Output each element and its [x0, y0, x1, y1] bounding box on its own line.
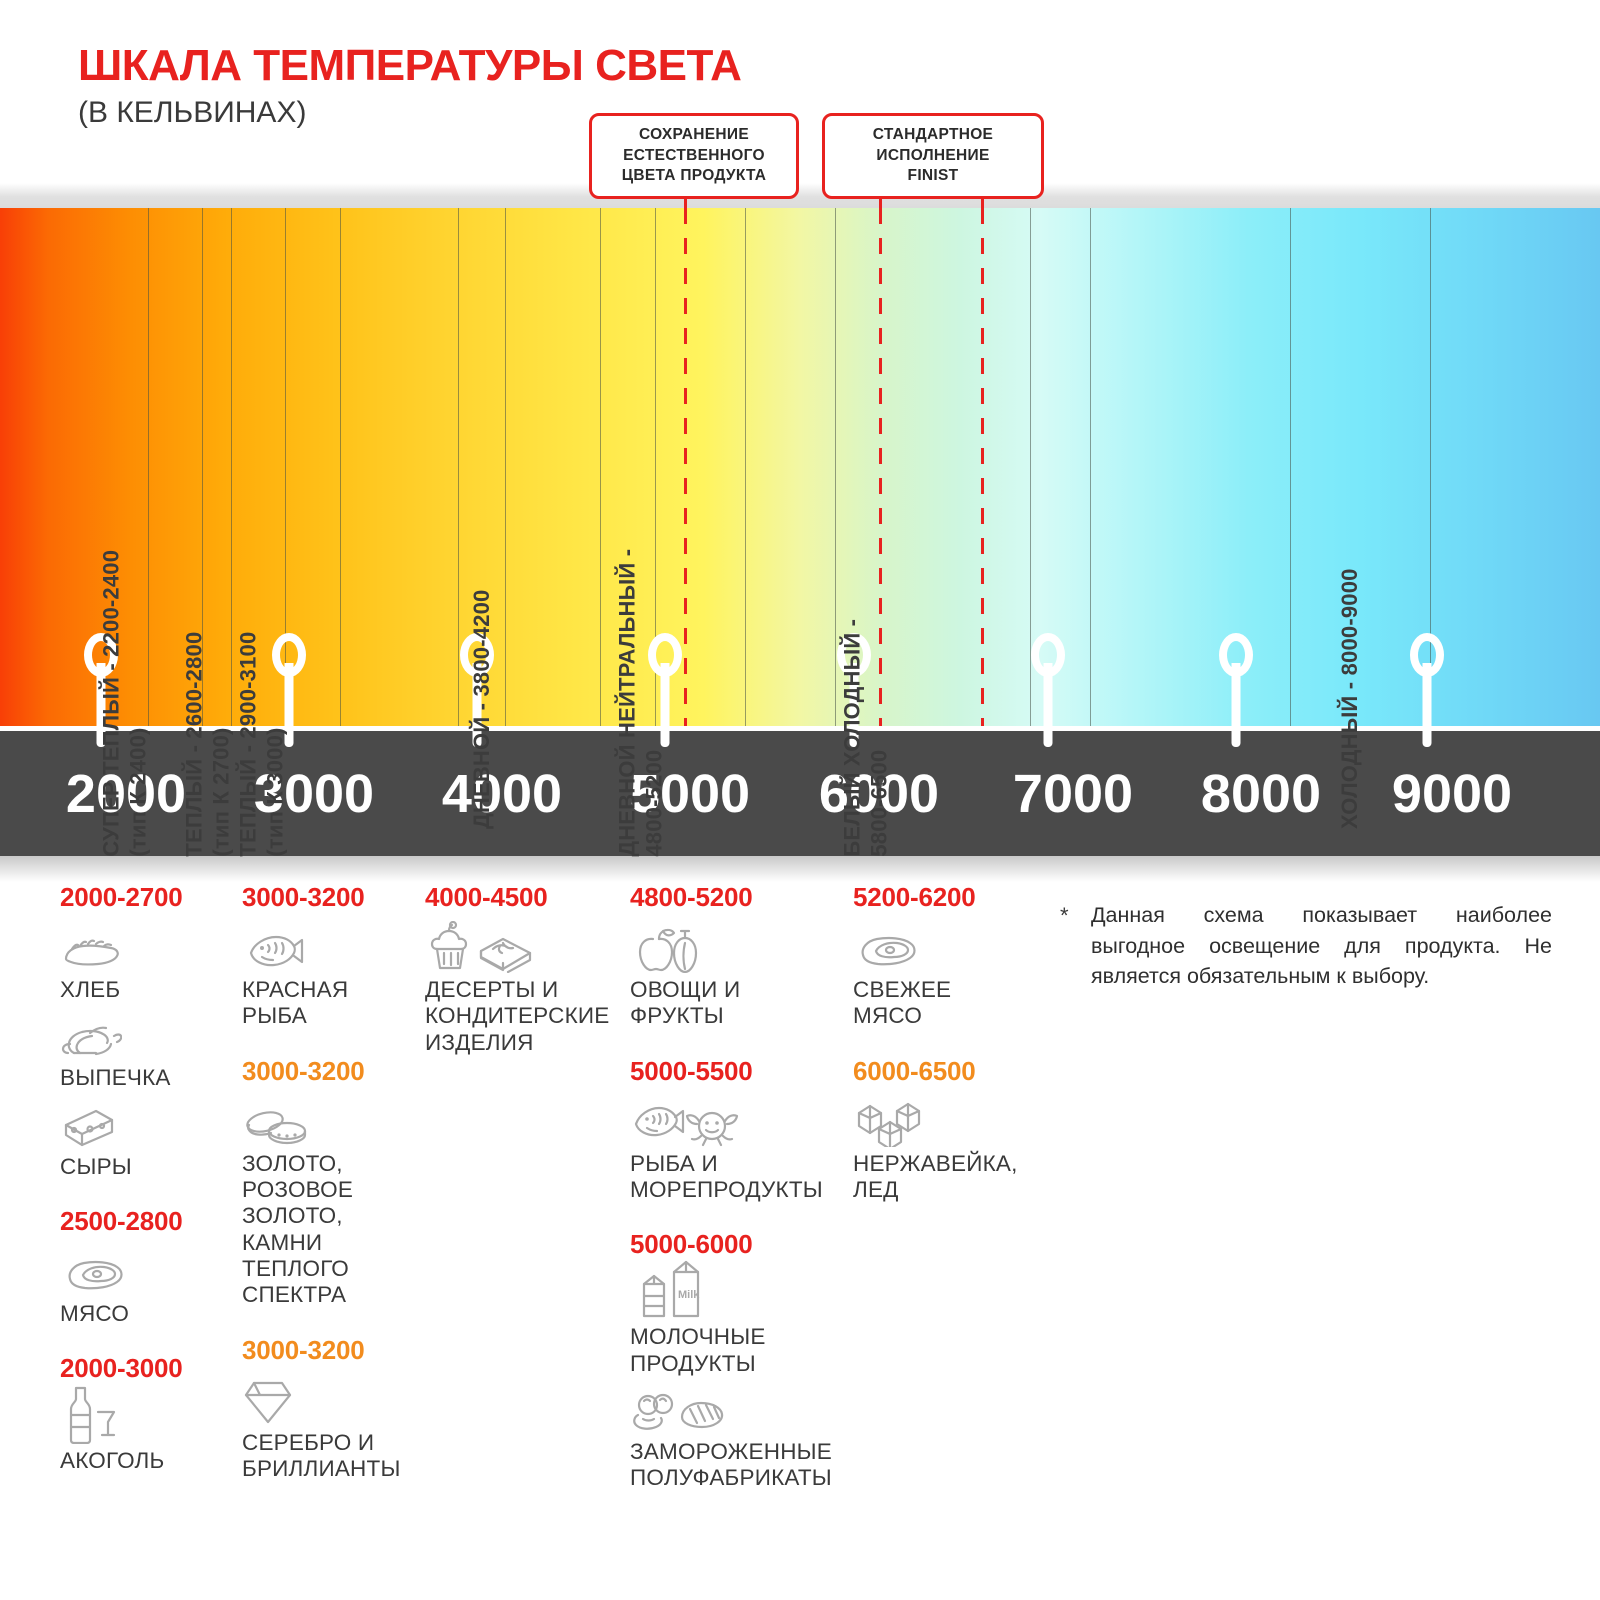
legend-item-label-line: РОЗОВОЕ ЗОЛОТО, [242, 1177, 427, 1230]
callout-finist-standard[interactable]: СТАНДАРТНОЕ ИСПОЛНЕНИЕ FINIST [822, 113, 1044, 199]
band-divider [1290, 208, 1291, 726]
callout-line-3: ЦВЕТА ПРОДУКТА [604, 166, 784, 187]
legend-item-label: МОЛОЧНЫЕ ПРОДУКТЫ [630, 1324, 848, 1377]
legend-item-label-line: ЛЕД [853, 1177, 1038, 1203]
band-divider [340, 208, 341, 726]
legend-item-label: ДЕСЕРТЫ ИКОНДИТЕРСКИЕИЗДЕЛИЯ [425, 977, 615, 1056]
legend-item-label: СЫРЫ [60, 1154, 235, 1180]
footnote-marker: * [1060, 903, 1069, 929]
band-range-label: БЕЛЫЙ ХОЛОДНЫЙ -5800-6500 [839, 619, 893, 857]
color-temperature-gradient: СУПЕР ТЕПЛЫЙ - 2200-2400(тип К 2400)ТЕПЛ… [0, 208, 1600, 726]
band-divider [835, 208, 836, 726]
infographic-page: ШКАЛА ТЕМПЕРАТУРЫ СВЕТА (В КЕЛЬВИНАХ) СО… [0, 0, 1600, 1600]
legend-item-label: СЕРЕБРО ИБРИЛЛИАНТЫ [242, 1430, 427, 1483]
legend-item-label-line: МОРЕПРОДУКТЫ [630, 1177, 848, 1203]
band-range-label: ХОЛОДНЫЙ - 8000-9000 [1337, 568, 1363, 829]
legend-group: 4000-4500ДЕСЕРТЫ ИКОНДИТЕРСКИЕИЗДЕЛИЯ [425, 882, 615, 1056]
legend-item: ВЫПЕЧКА [60, 1009, 235, 1091]
legend-item: ДЕСЕРТЫ ИКОНДИТЕРСКИЕИЗДЕЛИЯ [425, 921, 615, 1056]
legend-item-label-line: ХЛЕБ [60, 977, 235, 1003]
scale-tick-label: 8000 [1201, 763, 1321, 825]
scale-tick-label: 4000 [442, 763, 562, 825]
legend-item-label-line: МЯСО [60, 1301, 235, 1327]
callout-leader-line [684, 199, 687, 208]
milk-carton-icon: Milk [630, 1268, 848, 1320]
legend-item-label: СВЕЖЕЕМЯСО [853, 977, 1038, 1030]
band-range-label-line-1: БЕЛЫЙ ХОЛОДНЫЙ - [839, 619, 866, 857]
legend-item-label: ХЛЕБ [60, 977, 235, 1003]
legend-item-label-line: СЫРЫ [60, 1154, 235, 1180]
legend-column-4: 5200-6200СВЕЖЕЕМЯСО6000-6500НЕРЖАВЕЙКА,Л… [853, 882, 1038, 1229]
bread-icon [60, 921, 235, 973]
legend-item: СЫРЫ [60, 1098, 235, 1180]
page-subtitle: (В КЕЛЬВИНАХ) [78, 96, 306, 130]
band-range-label: ТЕПЛЫЙ - 2900-3100(тип К 3000) [235, 632, 289, 857]
legend-item: ОВОЩИ ИФРУКТЫ [630, 921, 848, 1030]
steak-icon [853, 921, 1038, 973]
legend-range-label: 4800-5200 [630, 882, 848, 913]
apple-pepper-icon [630, 921, 848, 973]
legend-item: MilkМОЛОЧНЫЕ ПРОДУКТЫ [630, 1268, 848, 1377]
band-range-label-line-2: (тип К 2400) [125, 550, 152, 857]
legend-group: 5000-5500РЫБА ИМОРЕПРОДУКТЫ [630, 1056, 848, 1204]
fish-icon [242, 921, 427, 973]
legend-group: 2000-3000АКОГОЛЬ [60, 1353, 235, 1474]
legend-item-label: АКОГОЛЬ [60, 1448, 235, 1474]
legend-column-3: 4800-5200ОВОЩИ ИФРУКТЫ5000-5500РЫБА ИМОР… [630, 882, 848, 1518]
scale-tick-label: 7000 [1013, 763, 1133, 825]
legend-item-label: КРАСНАЯРЫБА [242, 977, 427, 1030]
band-dashed-marker [684, 208, 687, 726]
legend-item-label: ЗАМОРОЖЕННЫЕПОЛУФАБРИКАТЫ [630, 1439, 848, 1492]
legend-item-label-line: МЯСО [853, 1003, 1038, 1029]
band-divider [600, 208, 601, 726]
band-divider [745, 208, 746, 726]
legend-item: СВЕЖЕЕМЯСО [853, 921, 1038, 1030]
legend-item-label: РЫБА ИМОРЕПРОДУКТЫ [630, 1151, 848, 1204]
cheese-icon [60, 1098, 235, 1150]
legend-item-label: ВЫПЕЧКА [60, 1065, 235, 1091]
band-range-label-line-1: ТЕПЛЫЙ - 2600-2800 [181, 632, 208, 857]
band-divider [505, 208, 506, 726]
band-range-label-line-2: (тип К 2700) [208, 632, 235, 857]
legend-range-label: 6000-6500 [853, 1056, 1038, 1087]
bottle-glass-icon [60, 1392, 235, 1444]
legend-group: 2000-2700ХЛЕБВЫПЕЧКАСЫРЫ [60, 882, 235, 1180]
band-range-label-line-1: СУПЕР ТЕПЛЫЙ - 2200-2400 [98, 550, 125, 857]
legend-range-label: 2000-2700 [60, 882, 235, 913]
callout-line-2: ИСПОЛНЕНИЕ [837, 146, 1029, 167]
svg-text:Milk: Milk [678, 1289, 700, 1301]
legend-range-label: 3000-3200 [242, 882, 427, 913]
legend-item-label-line: ДЕСЕРТЫ И [425, 977, 615, 1003]
legend-range-label: 2500-2800 [60, 1206, 235, 1237]
legend-item: ЗОЛОТО,РОЗОВОЕ ЗОЛОТО,КАМНИ ТЕПЛОГОСПЕКТ… [242, 1095, 427, 1309]
callout-line-1: СОХРАНЕНИЕ [604, 125, 784, 146]
scale-tick-label: 9000 [1392, 763, 1512, 825]
legend-item-label-line: АКОГОЛЬ [60, 1448, 235, 1474]
spectrum-band: СУПЕР ТЕПЛЫЙ - 2200-2400(тип К 2400)ТЕПЛ… [0, 183, 1600, 731]
band-range-label-line-1: ХОЛОДНЫЙ - 8000-9000 [1337, 568, 1363, 829]
band-range-label: ДНЕВНОЙ - 3800-4200 [469, 590, 495, 830]
callout-leader-line [981, 199, 984, 208]
steak-icon [60, 1245, 235, 1297]
legend-item: НЕРЖАВЕЙКА,ЛЕД [853, 1095, 1038, 1204]
pin-stem [1044, 663, 1053, 747]
frozen-food-icon [630, 1383, 848, 1435]
pin-stem [1423, 663, 1432, 747]
pin-stem [1232, 663, 1241, 747]
legend-item-label-line: РЫБА [242, 1003, 427, 1029]
legend-item-label-line: СВЕЖЕЕ [853, 977, 1038, 1003]
band-divider [1090, 208, 1091, 726]
callout-line-1: СТАНДАРТНОЕ [837, 125, 1029, 146]
band-dashed-marker [981, 208, 984, 726]
legend-range-label: 2000-3000 [60, 1353, 235, 1384]
legend-item-label-line: МОЛОЧНЫЕ ПРОДУКТЫ [630, 1324, 848, 1377]
legend-column-0: 2000-2700ХЛЕБВЫПЕЧКАСЫРЫ2500-2800МЯСО200… [60, 882, 235, 1501]
legend-column-2: 4000-4500ДЕСЕРТЫ ИКОНДИТЕРСКИЕИЗДЕЛИЯ [425, 882, 615, 1082]
band-range-label-line-2: (тип К 3000) [262, 632, 289, 857]
legend-item-label: НЕРЖАВЕЙКА,ЛЕД [853, 1151, 1038, 1204]
legend-item: АКОГОЛЬ [60, 1392, 235, 1474]
page-title: ШКАЛА ТЕМПЕРАТУРЫ СВЕТА [78, 41, 741, 91]
legend-item-label-line: ЗАМОРОЖЕННЫЕ [630, 1439, 848, 1465]
legend-item-label: ЗОЛОТО,РОЗОВОЕ ЗОЛОТО,КАМНИ ТЕПЛОГОСПЕКТ… [242, 1151, 427, 1309]
legend-range-label: 5000-6000 [630, 1229, 848, 1260]
legend-item-label-line: ВЫПЕЧКА [60, 1065, 235, 1091]
callout-line-3: FINIST [837, 166, 1029, 187]
legend-item: КРАСНАЯРЫБА [242, 921, 427, 1030]
band-range-label: ТЕПЛЫЙ - 2600-2800(тип К 2700) [181, 632, 235, 857]
legend-column-1: 3000-3200КРАСНАЯРЫБА3000-3200ЗОЛОТО,РОЗО… [242, 882, 427, 1508]
legend-item-label-line: СЕРЕБРО И [242, 1430, 427, 1456]
footnote-text: Данная схема показывает наиболее выгодно… [1091, 900, 1552, 992]
legend-range-label: 5000-5500 [630, 1056, 848, 1087]
croissant-icon [60, 1009, 235, 1061]
legend-group: 2500-2800МЯСО [60, 1206, 235, 1327]
legend-group: 5000-6000MilkМОЛОЧНЫЕ ПРОДУКТЫЗАМОРОЖЕНН… [630, 1229, 848, 1491]
legend-item-label-line: ПОЛУФАБРИКАТЫ [630, 1465, 848, 1491]
legend-item-label-line: РЫБА И [630, 1151, 848, 1177]
band-range-label-line-2: 4800-5200 [641, 549, 668, 857]
legend-item: МЯСО [60, 1245, 235, 1327]
legend-item-label-line: НЕРЖАВЕЙКА, [853, 1151, 1038, 1177]
legend-item-label: МЯСО [60, 1301, 235, 1327]
legend-item: ЗАМОРОЖЕННЫЕПОЛУФАБРИКАТЫ [630, 1383, 848, 1492]
legend-item-label-line: ФРУКТЫ [630, 1003, 848, 1029]
legend-group: 4800-5200ОВОЩИ ИФРУКТЫ [630, 882, 848, 1030]
legend-group: 3000-3200ЗОЛОТО,РОЗОВОЕ ЗОЛОТО,КАМНИ ТЕП… [242, 1056, 427, 1309]
legend-group: 6000-6500НЕРЖАВЕЙКА,ЛЕД [853, 1056, 1038, 1204]
footnote: * Данная схема показывает наиболее выгод… [1060, 900, 1552, 992]
legend-item-label-line: КАМНИ ТЕПЛОГО [242, 1230, 427, 1283]
diamond-icon [242, 1374, 427, 1426]
band-top-shadow [0, 183, 1600, 208]
legend-range-label: 5200-6200 [853, 882, 1038, 913]
band-dashed-marker [879, 208, 882, 726]
legend-item-label-line: СПЕКТРА [242, 1282, 427, 1308]
ice-cubes-icon [853, 1095, 1038, 1147]
legend-item: ХЛЕБ [60, 921, 235, 1003]
legend-range-label: 3000-3200 [242, 1335, 427, 1366]
fish-crab-icon [630, 1095, 848, 1147]
band-range-label-line-1: ТЕПЛЫЙ - 2900-3100 [235, 632, 262, 857]
legend-group: 3000-3200КРАСНАЯРЫБА [242, 882, 427, 1030]
callout-leader-line [879, 199, 882, 208]
legend-item: РЫБА ИМОРЕПРОДУКТЫ [630, 1095, 848, 1204]
band-range-label-line-1: ДНЕВНОЙ НЕЙТРАЛЬНЫЙ - [614, 549, 641, 857]
legend-group: 5200-6200СВЕЖЕЕМЯСО [853, 882, 1038, 1030]
band-range-label-line-1: ДНЕВНОЙ - 3800-4200 [469, 590, 495, 830]
legend-item-label: ОВОЩИ ИФРУКТЫ [630, 977, 848, 1030]
legend-item-label-line: ИЗДЕЛИЯ [425, 1030, 615, 1056]
legend-item: СЕРЕБРО ИБРИЛЛИАНТЫ [242, 1374, 427, 1483]
cake-dessert-icon [425, 921, 615, 973]
legend-item-label-line: КРАСНАЯ [242, 977, 427, 1003]
band-range-label: ДНЕВНОЙ НЕЙТРАЛЬНЫЙ -4800-5200 [614, 549, 668, 857]
legend-item-label-line: КОНДИТЕРСКИЕ [425, 1003, 615, 1029]
legend-range-label: 4000-4500 [425, 882, 615, 913]
legend-group: 3000-3200СЕРЕБРО ИБРИЛЛИАНТЫ [242, 1335, 427, 1483]
callout-line-2: ЕСТЕСТВЕННОГО [604, 146, 784, 167]
legend-range-label: 3000-3200 [242, 1056, 427, 1087]
callout-natural-color[interactable]: СОХРАНЕНИЕ ЕСТЕСТВЕННОГО ЦВЕТА ПРОДУКТА [589, 113, 799, 199]
legend-item-label-line: ЗОЛОТО, [242, 1151, 427, 1177]
legend-item-label-line: БРИЛЛИАНТЫ [242, 1456, 427, 1482]
band-range-label: СУПЕР ТЕПЛЫЙ - 2200-2400(тип К 2400) [98, 550, 152, 857]
band-divider [458, 208, 459, 726]
legend-item-label-line: ОВОЩИ И [630, 977, 848, 1003]
rings-icon [242, 1095, 427, 1147]
scale-bottom-shadow [0, 856, 1600, 882]
